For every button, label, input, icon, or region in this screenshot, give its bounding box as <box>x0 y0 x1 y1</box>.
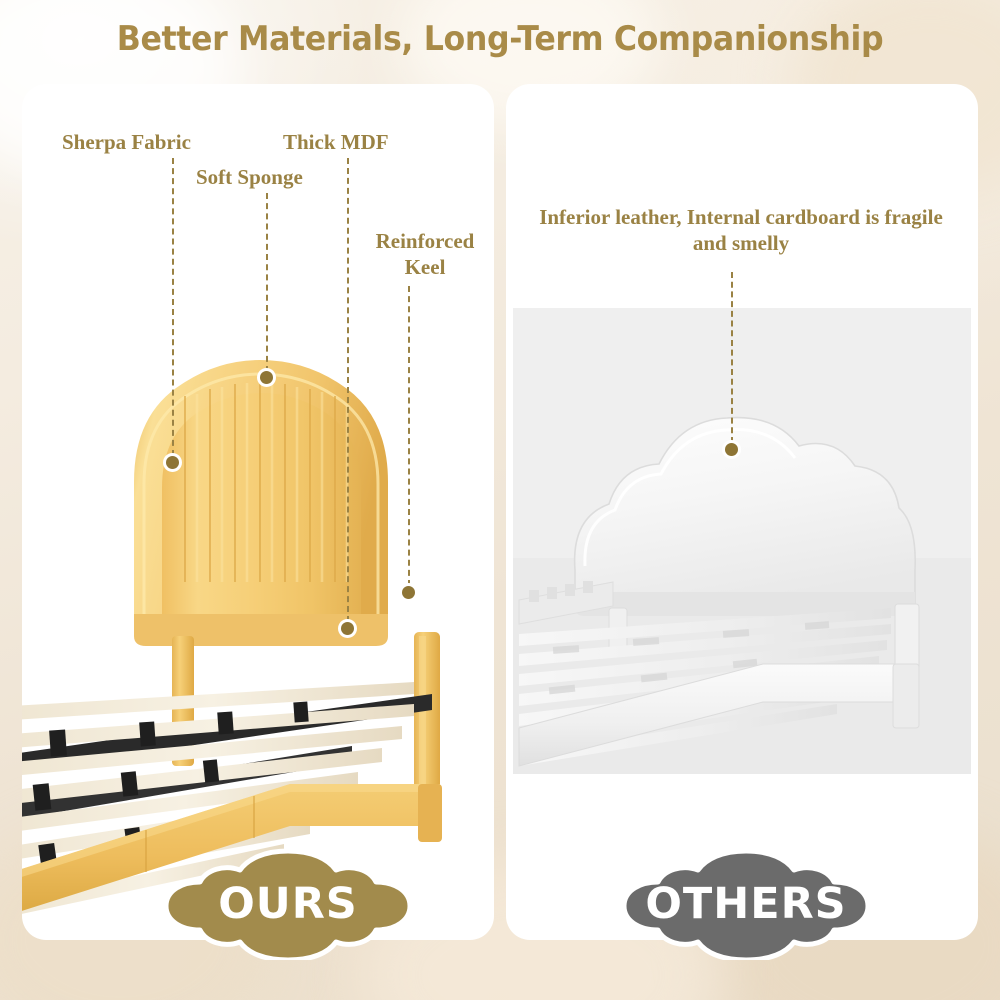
callout-label-sherpa-fabric: Sherpa Fabric <box>62 130 191 156</box>
callout-label-reinforced-keel: Reinforced Keel <box>360 229 490 280</box>
leader-line-inferior-leather <box>731 272 733 443</box>
callout-dot-sherpa-fabric <box>166 456 179 469</box>
callout-dot-inferior-leather <box>725 443 738 456</box>
callout-label-soft-sponge: Soft Sponge <box>196 165 303 191</box>
others-bed-illustration <box>513 308 971 774</box>
badge-ours: OURS <box>162 848 414 960</box>
infographic-canvas: Better Materials, Long-Term Companionshi… <box>0 0 1000 1000</box>
leader-line-reinforced-keel <box>408 286 410 586</box>
ours-product-photo <box>22 84 494 940</box>
callout-label-thick-mdf: Thick MDF <box>283 130 389 156</box>
leader-line-soft-sponge <box>266 193 268 372</box>
foot-leg <box>418 784 442 842</box>
leader-line-thick-mdf <box>347 158 349 622</box>
ours-bed-illustration <box>22 84 494 940</box>
callout-dot-thick-mdf <box>341 622 354 635</box>
callout-label-inferior-leather: Inferior leather, Internal cardboard is … <box>536 205 946 256</box>
comparison-card-ours <box>22 84 494 940</box>
callout-dot-soft-sponge <box>260 371 273 384</box>
leader-line-sherpa-fabric <box>172 158 174 456</box>
others-badge-shape <box>620 848 872 960</box>
ours-badge-shape <box>162 848 414 960</box>
page-title: Better Materials, Long-Term Companionshi… <box>35 19 965 59</box>
badge-others: OTHERS <box>620 848 872 960</box>
callout-dot-reinforced-keel <box>402 586 415 599</box>
others-product-photo <box>513 308 971 774</box>
headboard-inner-panel <box>162 393 361 616</box>
others-foot-leg <box>893 664 919 728</box>
